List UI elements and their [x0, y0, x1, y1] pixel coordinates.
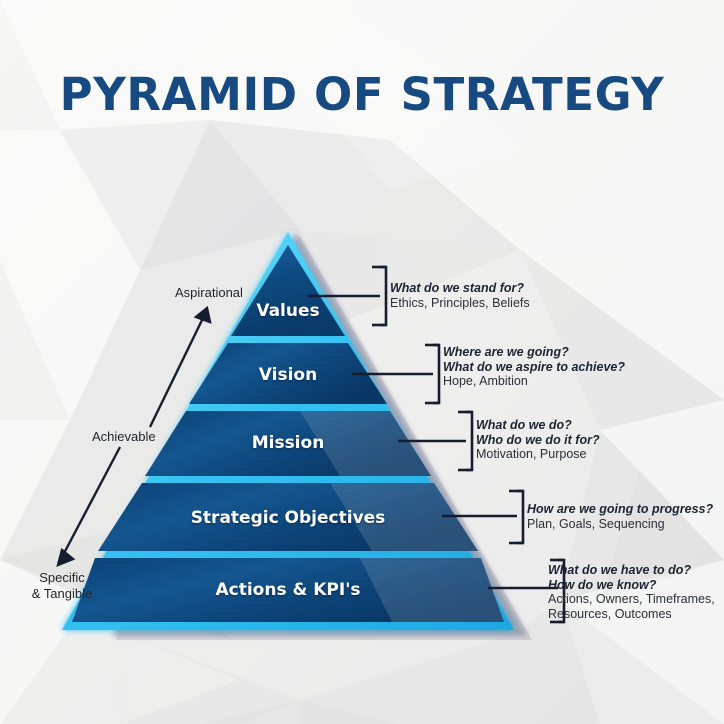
annotation-vision: Where are we going? What do we aspire to… [443, 345, 625, 389]
annotation-question: Where are we going? [443, 345, 625, 360]
annotation-values: What do we stand for? Ethics, Principles… [390, 281, 530, 311]
side-label-line2: & Tangible [20, 586, 104, 602]
annotation-question: What do we do? [476, 418, 600, 433]
annotation-question: What do we stand for? [390, 281, 530, 296]
annotation-detail: Actions, Owners, Timeframes, [548, 592, 715, 607]
annotation-question: How do we know? [548, 578, 715, 593]
annotation-detail: Ethics, Principles, Beliefs [390, 296, 530, 311]
annotation-question: How are we going to progress? [527, 502, 713, 517]
annotation-question: What do we have to do? [548, 563, 715, 578]
side-label-line1: Specific [20, 570, 104, 586]
side-label-specific-tangible: Specific & Tangible [20, 570, 104, 602]
annotation-detail: Motivation, Purpose [476, 447, 600, 462]
annotation-detail: Hope, Ambition [443, 374, 625, 389]
annotation-mission: What do we do? Who do we do it for? Moti… [476, 418, 600, 462]
annotation-detail: Resources, Outcomes [548, 607, 715, 622]
annotation-question: What do we aspire to achieve? [443, 360, 625, 375]
side-label-aspirational: Aspirational [175, 285, 243, 301]
annotation-strategic-objectives: How are we going to progress? Plan, Goal… [527, 502, 713, 532]
infographic-canvas: PYRAMID OF STRATEGY [0, 0, 724, 724]
side-label-achievable: Achievable [92, 429, 156, 445]
annotation-question: Who do we do it for? [476, 433, 600, 448]
annotation-actions-kpis: What do we have to do? How do we know? A… [548, 563, 715, 622]
annotation-detail: Plan, Goals, Sequencing [527, 517, 713, 532]
